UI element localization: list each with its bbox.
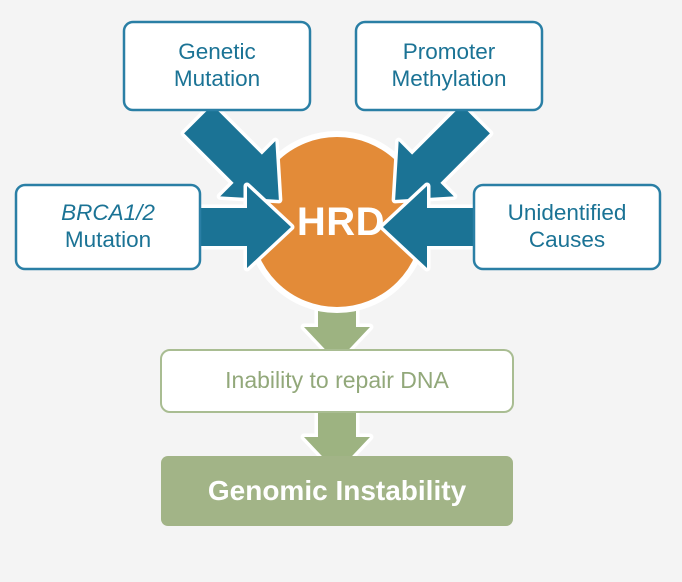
cause-box-genetic-mutation[interactable]: [124, 22, 310, 110]
diagram-canvas: [0, 0, 682, 582]
hrd-flow-diagram: Genetic Mutation Promoter Methylation BR…: [0, 0, 682, 582]
outcome-box-inability-to-repair-dna[interactable]: [161, 350, 513, 412]
cause-box-brca-mutation[interactable]: [16, 185, 200, 269]
cause-box-promoter-methylation[interactable]: [356, 22, 542, 110]
cause-box-unidentified-causes[interactable]: [474, 185, 660, 269]
outcome-box-genomic-instability[interactable]: [161, 456, 513, 526]
